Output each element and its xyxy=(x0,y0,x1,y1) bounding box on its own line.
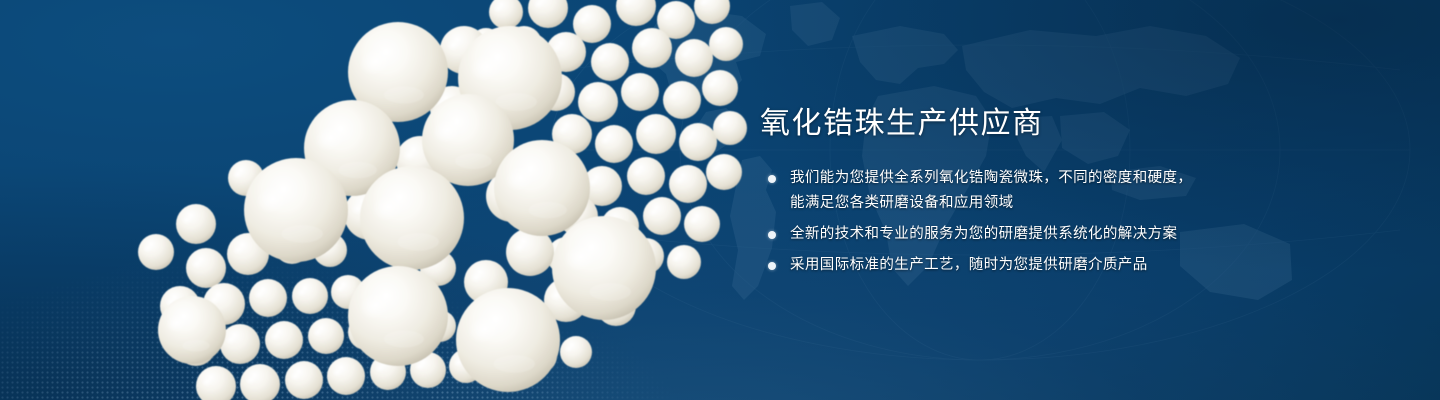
banner-copy: 氧化锆珠生产供应商 我们能为您提供全系列氧化锆陶瓷微珠，不同的密度和硬度， 能满… xyxy=(760,104,1360,284)
zirconia-beads-image xyxy=(0,0,740,400)
bullet-item: 采用国际标准的生产工艺，随时为您提供研磨介质产品 xyxy=(760,253,1360,278)
bullet-dot-icon xyxy=(768,175,776,183)
bullet-line: 能满足您各类研磨设备和应用领域 xyxy=(790,191,1360,216)
bullet-item: 全新的技术和专业的服务为您的研磨提供系统化的解决方案 xyxy=(760,222,1360,247)
bullet-line: 采用国际标准的生产工艺，随时为您提供研磨介质产品 xyxy=(790,253,1360,278)
bullet-line: 全新的技术和专业的服务为您的研磨提供系统化的解决方案 xyxy=(790,222,1360,247)
bullet-dot-icon xyxy=(768,231,776,239)
bullet-item: 我们能为您提供全系列氧化锆陶瓷微珠，不同的密度和硬度， 能满足您各类研磨设备和应… xyxy=(760,166,1360,216)
bullet-dot-icon xyxy=(768,262,776,270)
hero-banner: 氧化锆珠生产供应商 我们能为您提供全系列氧化锆陶瓷微珠，不同的密度和硬度， 能满… xyxy=(0,0,1440,400)
bullet-line: 我们能为您提供全系列氧化锆陶瓷微珠，不同的密度和硬度， xyxy=(790,166,1360,191)
banner-bullet-list: 我们能为您提供全系列氧化锆陶瓷微珠，不同的密度和硬度， 能满足您各类研磨设备和应… xyxy=(760,166,1360,278)
banner-headline: 氧化锆珠生产供应商 xyxy=(760,104,1360,144)
